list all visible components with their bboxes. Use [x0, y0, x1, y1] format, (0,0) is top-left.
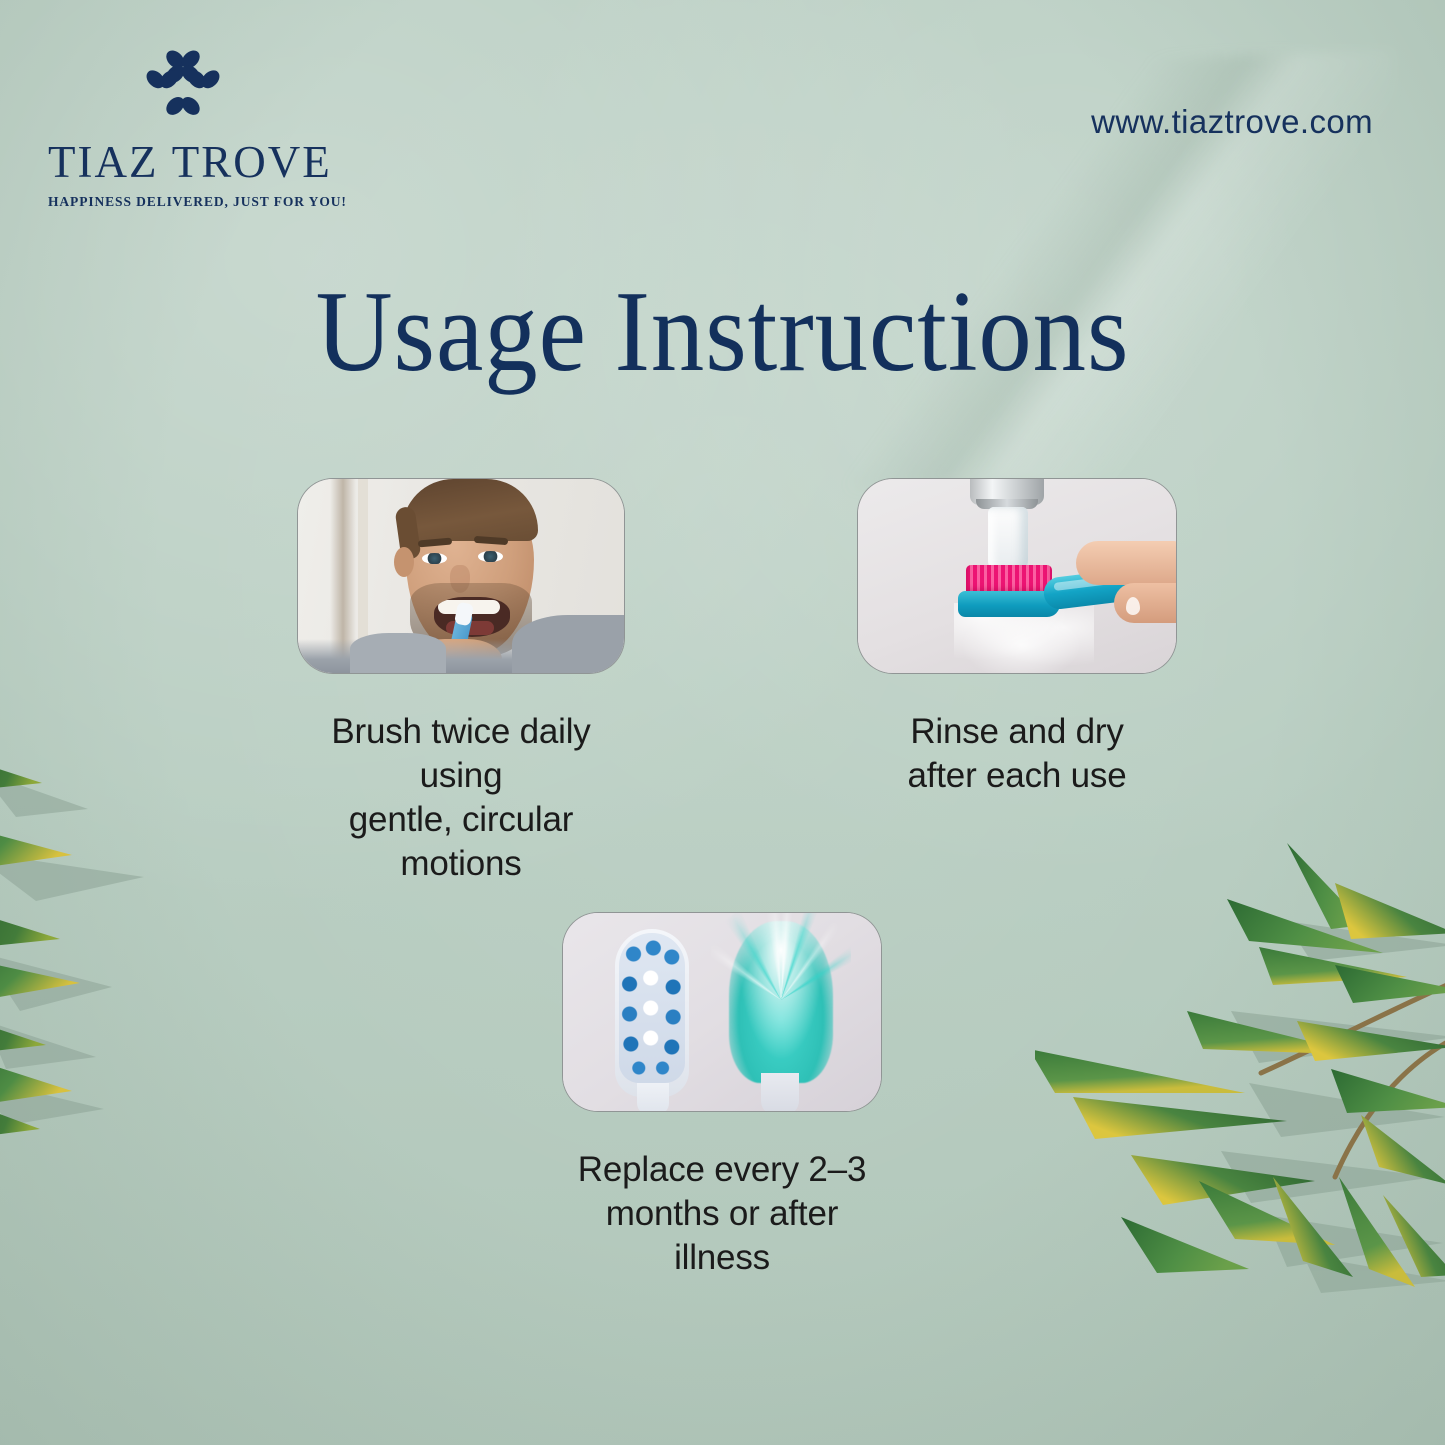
step-card-rinse-and-dry: Rinse and dry after each use: [857, 478, 1177, 798]
toothbrush-rinsing-under-tap-photo: [857, 478, 1177, 674]
website-url[interactable]: www.tiaztrove.com: [1091, 103, 1373, 141]
willow-branch-decor-icon: [1035, 825, 1445, 1295]
brand-tagline: HAPPINESS DELIVERED, JUST FOR YOU!: [48, 194, 318, 210]
new-vs-worn-toothbrush-heads-photo: [562, 912, 882, 1112]
step-caption: Rinse and dry after each use: [857, 710, 1177, 798]
four-petal-diamond-logo-icon: [140, 44, 226, 130]
eucalyptus-branch-decor-icon: [0, 725, 276, 1145]
brand-name-part1: TIAZ: [48, 137, 158, 187]
page-title: Usage Instructions: [58, 272, 1387, 394]
usage-instructions-poster: TIAZ TROVE HAPPINESS DELIVERED, JUST FOR…: [0, 0, 1445, 1445]
step-card-replace-every-2-3-months: Replace every 2–3 months or after illnes…: [562, 912, 882, 1280]
brand-name: TIAZ TROVE: [48, 140, 318, 185]
step-caption: Brush twice daily using gentle, circular…: [297, 710, 625, 886]
step-card-brush-twice-daily: Brush twice daily using gentle, circular…: [297, 478, 625, 886]
brand-logo[interactable]: TIAZ TROVE HAPPINESS DELIVERED, JUST FOR…: [48, 44, 318, 210]
brand-name-part2: TROVE: [172, 137, 332, 187]
step-caption: Replace every 2–3 months or after illnes…: [562, 1148, 882, 1280]
man-brushing-teeth-photo: [297, 478, 625, 674]
